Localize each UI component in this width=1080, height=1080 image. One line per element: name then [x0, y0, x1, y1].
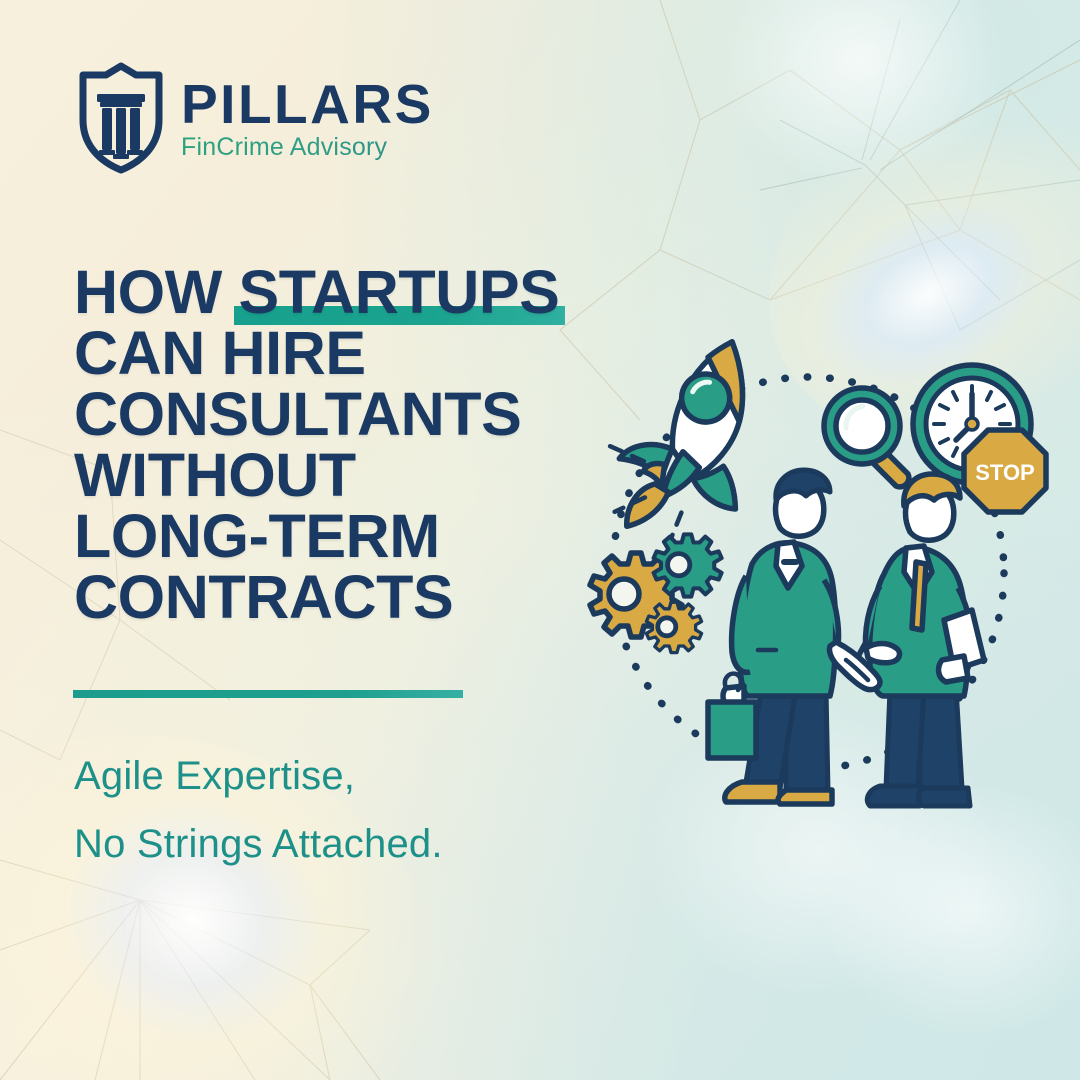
stop-sign-label: STOP: [975, 460, 1035, 485]
subtitle-line-2: No Strings Attached.: [74, 810, 594, 878]
light-flare-top-right-core: [710, 0, 1010, 190]
brand-tagline: FinCrime Advisory: [181, 135, 434, 160]
stop-sign-icon: STOP: [964, 430, 1046, 512]
magnifier-icon: [824, 388, 909, 487]
rocket-icon: [593, 341, 762, 549]
poster-canvas: PILLARS FinCrime Advisory HOW STARTUPS C…: [0, 0, 1080, 1080]
headline-line-1: HOW STARTUPS: [74, 262, 634, 323]
subtitle: Agile Expertise, No Strings Attached.: [74, 742, 594, 878]
businessman-left: [708, 470, 874, 804]
shield-pillars-icon: [75, 62, 167, 174]
gear-medium-icon: [654, 534, 722, 596]
headline-line-1-text: HOW: [74, 258, 238, 326]
hero-illustration: .ln{fill:none;stroke:#1b3a5c;stroke-widt…: [540, 330, 1060, 830]
accent-divider-rule: [73, 690, 463, 698]
subtitle-line-1: Agile Expertise,: [74, 742, 594, 810]
brand-logo: PILLARS FinCrime Advisory: [75, 62, 434, 174]
brand-name: PILLARS: [181, 77, 434, 132]
headline-highlight-word: STARTUPS: [238, 262, 559, 323]
gear-small-icon: [646, 602, 701, 652]
businessman-right: [850, 474, 984, 806]
